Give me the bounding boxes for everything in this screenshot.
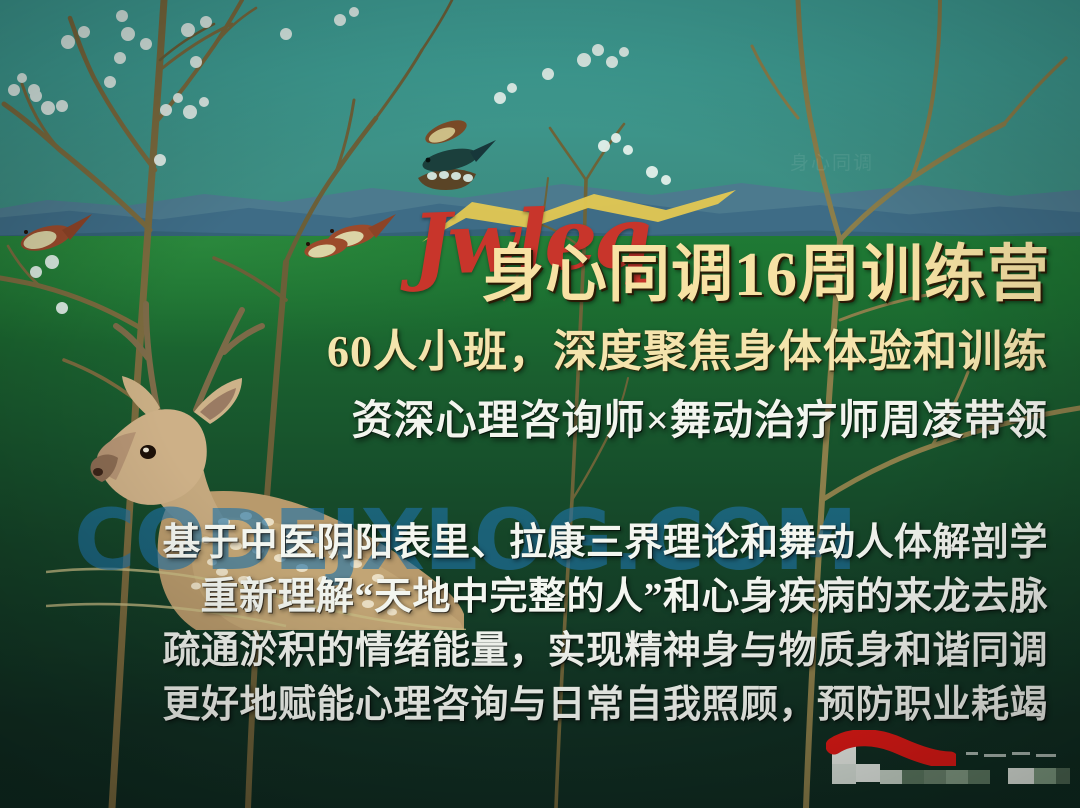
body-line: 重新理解“天地中完整的人”和心身疾病的来龙去脉: [0, 570, 1056, 624]
poster-canvas: Jwleq 身心同调 身心同调16周训练营 60人小班，深度聚焦身体体验和训练 …: [0, 0, 1080, 808]
headline-block: 身心同调16周训练营 60人小班，深度聚焦身体体验和训练 资深心理咨询师×舞动治…: [0, 238, 1056, 446]
body-line: 更好地赋能心理咨询与日常自我照顾，预防职业耗竭: [0, 678, 1056, 732]
body-line: 基于中医阴阳表里、拉康三界理论和舞动人体解剖学: [0, 516, 1056, 570]
ghost-watermark-text: 身心同调: [790, 148, 874, 175]
bird-nest-top: [418, 140, 496, 190]
red-marker-scribble: [826, 730, 956, 766]
deer-nose: [93, 468, 103, 476]
poster-title: 身心同调16周训练营: [0, 238, 1056, 312]
body-line: 疏通淤积的情绪能量，实现精神身与物质身和谐同调: [0, 624, 1056, 678]
poster-subtitle-2: 资深心理咨询师×舞动治疗师周凌带领: [0, 394, 1056, 446]
poster-subtitle-1: 60人小班，深度聚焦身体体验和训练: [0, 324, 1056, 380]
body-copy-block: 基于中医阴阳表里、拉康三界理论和舞动人体解剖学 重新理解“天地中完整的人”和心身…: [0, 516, 1056, 732]
deer-eye: [140, 445, 156, 459]
bird-far-right: [422, 115, 470, 148]
